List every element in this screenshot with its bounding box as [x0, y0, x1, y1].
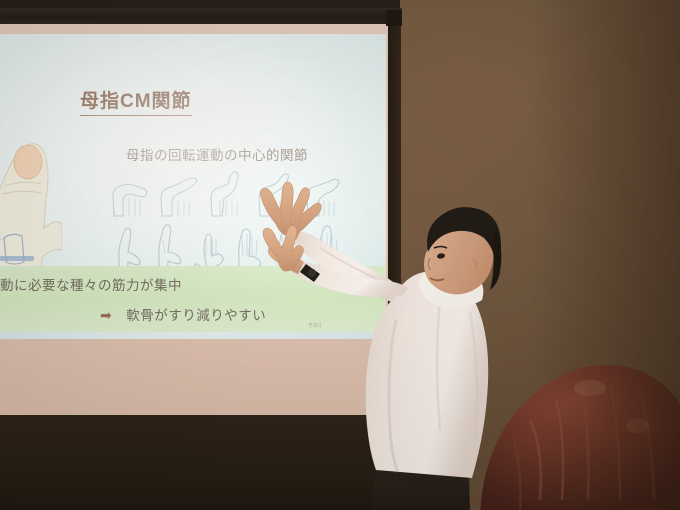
wall-right-shadow [530, 0, 680, 510]
lecture-photo-scene: 母指CM関節 母指の回転運動の中心的関節 [0, 0, 680, 510]
